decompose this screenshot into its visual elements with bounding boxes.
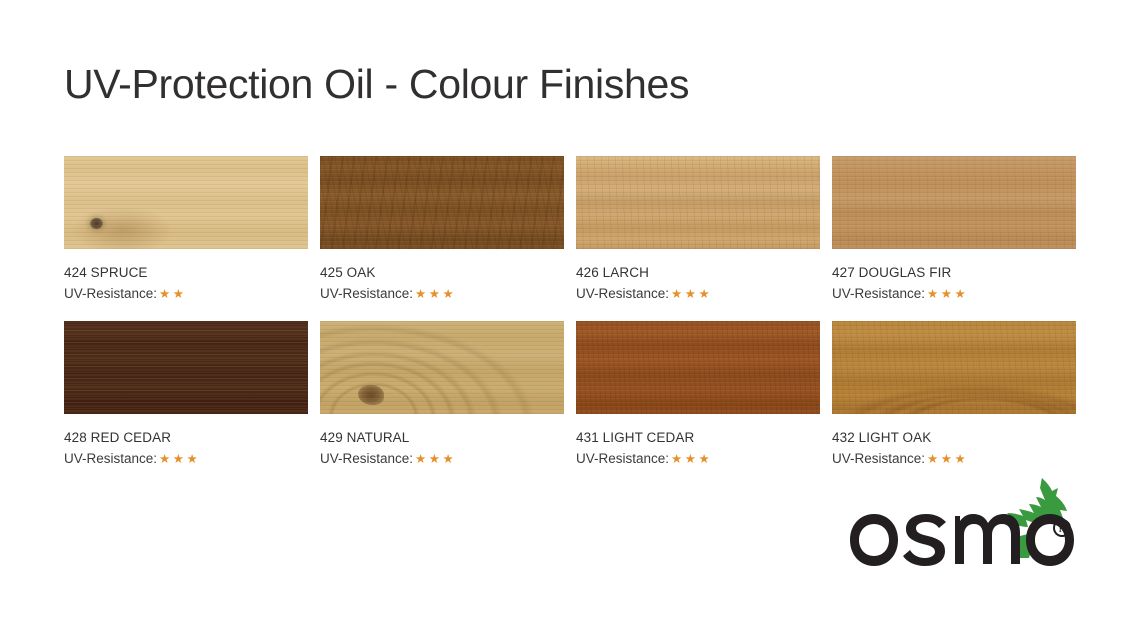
star-icon: ★ <box>173 453 187 466</box>
star-icon: ★ <box>442 453 456 466</box>
uv-rating-stars: ★★★ <box>671 453 712 466</box>
star-icon: ★ <box>954 288 968 301</box>
product-name: 429 NATURAL <box>320 429 564 448</box>
star-icon: ★ <box>685 453 699 466</box>
product-label: 426 LARCHUV-Resistance:★★★ <box>576 264 820 303</box>
uv-resistance-row: UV-Resistance:★★★ <box>576 450 820 469</box>
svg-text:R: R <box>1059 524 1066 535</box>
uv-rating-stars: ★★★ <box>415 288 456 301</box>
star-icon: ★ <box>442 288 456 301</box>
star-icon: ★ <box>671 288 685 301</box>
uv-resistance-label: UV-Resistance: <box>64 285 157 304</box>
uv-rating-stars: ★★★ <box>159 453 200 466</box>
wood-knot <box>358 385 384 405</box>
uv-resistance-label: UV-Resistance: <box>64 450 157 469</box>
product-card[interactable]: 428 RED CEDARUV-Resistance:★★★ <box>64 321 308 468</box>
star-icon: ★ <box>941 288 955 301</box>
uv-resistance-label: UV-Resistance: <box>832 285 925 304</box>
product-label: 428 RED CEDARUV-Resistance:★★★ <box>64 429 308 468</box>
product-name: 426 LARCH <box>576 264 820 283</box>
product-label: 424 SPRUCEUV-Resistance:★★ <box>64 264 308 303</box>
uv-rating-stars: ★★ <box>159 288 186 301</box>
uv-rating-stars: ★★★ <box>927 453 968 466</box>
star-icon: ★ <box>698 288 712 301</box>
product-card[interactable]: 432 LIGHT OAKUV-Resistance:★★★ <box>832 321 1076 468</box>
wood-swatch[interactable] <box>832 321 1076 414</box>
product-label: 429 NATURALUV-Resistance:★★★ <box>320 429 564 468</box>
product-card[interactable]: 427 DOUGLAS FIRUV-Resistance:★★★ <box>832 156 1076 303</box>
star-icon: ★ <box>415 453 429 466</box>
star-icon: ★ <box>186 453 200 466</box>
star-icon: ★ <box>159 288 173 301</box>
wood-swatch[interactable] <box>576 156 820 249</box>
wood-swatch[interactable] <box>64 321 308 414</box>
star-icon: ★ <box>159 453 173 466</box>
product-name: 431 LIGHT CEDAR <box>576 429 820 448</box>
wood-swatch[interactable] <box>64 156 308 249</box>
product-name: 427 DOUGLAS FIR <box>832 264 1076 283</box>
product-label: 427 DOUGLAS FIRUV-Resistance:★★★ <box>832 264 1076 303</box>
uv-resistance-row: UV-Resistance:★★★ <box>832 450 1076 469</box>
star-icon: ★ <box>173 288 187 301</box>
wood-knot <box>90 218 103 229</box>
product-card[interactable]: 431 LIGHT CEDARUV-Resistance:★★★ <box>576 321 820 468</box>
uv-rating-stars: ★★★ <box>671 288 712 301</box>
uv-resistance-label: UV-Resistance: <box>320 285 413 304</box>
product-label: 432 LIGHT OAKUV-Resistance:★★★ <box>832 429 1076 468</box>
wood-swatch[interactable] <box>832 156 1076 249</box>
page-title: UV-Protection Oil - Colour Finishes <box>64 62 689 107</box>
uv-rating-stars: ★★★ <box>927 288 968 301</box>
product-name: 424 SPRUCE <box>64 264 308 283</box>
osmo-logo: R <box>846 474 1078 582</box>
wood-swatch[interactable] <box>320 321 564 414</box>
star-icon: ★ <box>927 288 941 301</box>
star-icon: ★ <box>941 453 955 466</box>
product-label: 431 LIGHT CEDARUV-Resistance:★★★ <box>576 429 820 468</box>
product-card[interactable]: 426 LARCHUV-Resistance:★★★ <box>576 156 820 303</box>
star-icon: ★ <box>415 288 429 301</box>
uv-rating-stars: ★★★ <box>415 453 456 466</box>
product-swatch-grid: 424 SPRUCEUV-Resistance:★★425 OAKUV-Resi… <box>64 156 1076 469</box>
uv-resistance-label: UV-Resistance: <box>832 450 925 469</box>
product-name: 425 OAK <box>320 264 564 283</box>
uv-resistance-label: UV-Resistance: <box>320 450 413 469</box>
star-icon: ★ <box>429 453 443 466</box>
product-card[interactable]: 429 NATURALUV-Resistance:★★★ <box>320 321 564 468</box>
uv-resistance-label: UV-Resistance: <box>576 285 669 304</box>
uv-resistance-row: UV-Resistance:★★★ <box>576 285 820 304</box>
star-icon: ★ <box>671 453 685 466</box>
uv-resistance-row: UV-Resistance:★★★ <box>320 450 564 469</box>
uv-resistance-label: UV-Resistance: <box>576 450 669 469</box>
star-icon: ★ <box>685 288 699 301</box>
uv-resistance-row: UV-Resistance:★★★ <box>832 285 1076 304</box>
product-card[interactable]: 425 OAKUV-Resistance:★★★ <box>320 156 564 303</box>
star-icon: ★ <box>927 453 941 466</box>
product-label: 425 OAKUV-Resistance:★★★ <box>320 264 564 303</box>
product-name: 432 LIGHT OAK <box>832 429 1076 448</box>
wood-swatch[interactable] <box>576 321 820 414</box>
product-name: 428 RED CEDAR <box>64 429 308 448</box>
star-icon: ★ <box>954 453 968 466</box>
product-card[interactable]: 424 SPRUCEUV-Resistance:★★ <box>64 156 308 303</box>
osmo-wordmark <box>850 514 1074 566</box>
slide-canvas: UV-Protection Oil - Colour Finishes 424 … <box>0 0 1140 640</box>
star-icon: ★ <box>698 453 712 466</box>
wood-swatch[interactable] <box>320 156 564 249</box>
uv-resistance-row: UV-Resistance:★★★ <box>320 285 564 304</box>
uv-resistance-row: UV-Resistance:★★ <box>64 285 308 304</box>
uv-resistance-row: UV-Resistance:★★★ <box>64 450 308 469</box>
star-icon: ★ <box>429 288 443 301</box>
